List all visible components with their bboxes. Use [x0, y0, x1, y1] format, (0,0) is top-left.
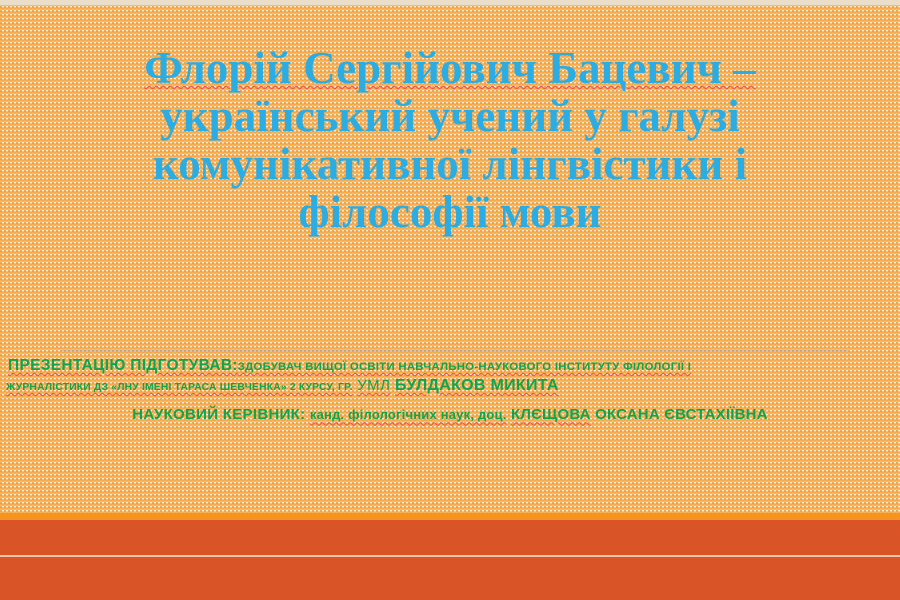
group-line: ЖУРНАЛІСТИКИ ДЗ «ЛНУ ІМЕНІ ТАРАСА ШЕВЧЕН… [0, 376, 900, 396]
prepared-by-body: ЗДОБУВАЧ ВИЩОЇ ОСВІТИ НАВЧАЛЬНО-НАУКОВОГ… [238, 361, 691, 373]
advisor-given-name: ОКСАНА ЄВСТАХІЇВНА [595, 406, 768, 423]
slide-title-block: Флорій Сергійович Бацевич – український … [60, 44, 840, 237]
bottom-accent-hairline [0, 555, 900, 557]
title-line-1: Флорій Сергійович Бацевич – [144, 43, 756, 93]
bottom-accent-bar-main [0, 520, 900, 600]
bottom-accent-bar-bright [0, 513, 900, 520]
horizontal-divider [62, 350, 848, 351]
prepared-by-line: ПРЕЗЕНТАЦІЮ ПІДГОТУВАВ:ЗДОБУВАЧ ВИЩОЇ ОС… [0, 356, 900, 376]
advisor-degree: канд. філологічних наук, доц. [310, 407, 507, 422]
advisor-label: НАУКОВИЙ КЕРІВНИК: [132, 406, 305, 423]
title-line-4: філософії мови [299, 187, 602, 237]
title-line-3: комунікативної лінгвістики і [153, 139, 747, 189]
top-border-strip [0, 0, 900, 5]
institute-line: ЖУРНАЛІСТИКИ ДЗ «ЛНУ ІМЕНІ ТАРАСА ШЕВЧЕН… [6, 382, 353, 393]
group-code: УМЛ [357, 377, 390, 394]
prepared-by-label: ПРЕЗЕНТАЦІЮ ПІДГОТУВАВ: [8, 357, 238, 374]
title-line-2: український учений у галузі [160, 91, 740, 141]
credits-block: ПРЕЗЕНТАЦІЮ ПІДГОТУВАВ:ЗДОБУВАЧ ВИЩОЇ ОС… [0, 356, 900, 425]
presentation-slide: Флорій Сергійович Бацевич – український … [0, 0, 900, 600]
advisor-line: НАУКОВИЙ КЕРІВНИК: канд. філологічних на… [0, 405, 900, 425]
page-title: Флорій Сергійович Бацевич – український … [60, 44, 840, 237]
student-name: БУЛДАКОВ МИКИТА [395, 377, 559, 394]
advisor-surname: КЛЄЩОВА [511, 406, 591, 423]
